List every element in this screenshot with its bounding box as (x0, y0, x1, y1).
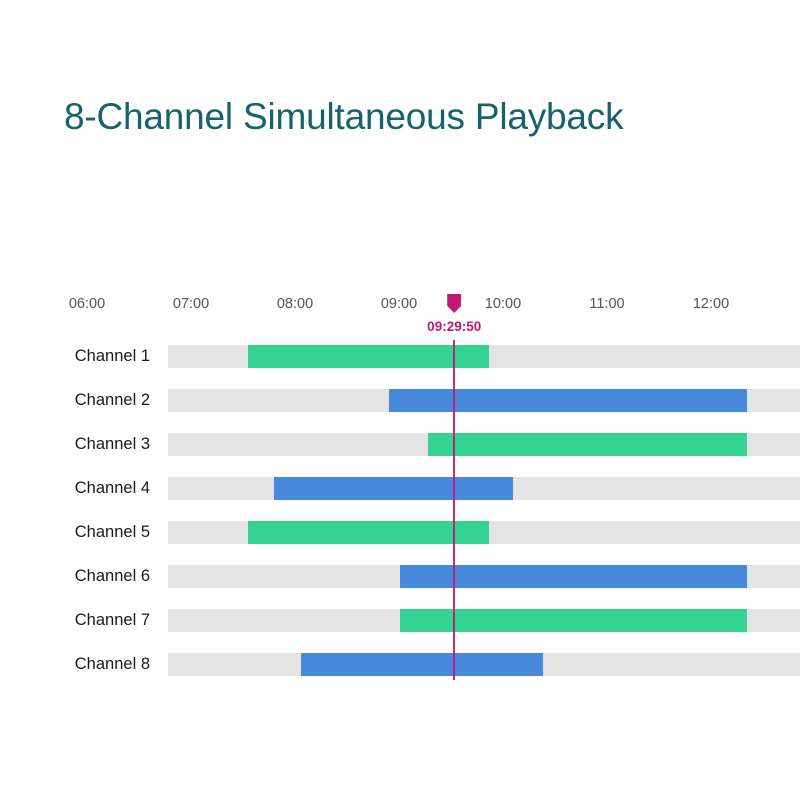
channel-row[interactable]: Channel 1 (0, 345, 800, 389)
channel-row[interactable]: Channel 8 (0, 653, 800, 697)
recording-segment-channel-2[interactable] (389, 389, 748, 412)
playhead-line[interactable] (453, 340, 455, 680)
channel-label-8: Channel 8 (40, 653, 150, 676)
axis-tick-label: 08:00 (277, 296, 313, 312)
recording-segment-channel-8[interactable] (301, 653, 542, 676)
playback-timeline-page: 8-Channel Simultaneous Playback 06:0007:… (0, 0, 800, 800)
axis-tick-label: 06:00 (69, 296, 105, 312)
recording-segment-channel-7[interactable] (400, 609, 747, 632)
channel-row[interactable]: Channel 6 (0, 565, 800, 609)
playhead-time-label: 09:29:50 (427, 319, 481, 334)
channel-row[interactable]: Channel 7 (0, 609, 800, 653)
axis-tick-label: 09:00 (381, 296, 417, 312)
channel-label-5: Channel 5 (40, 521, 150, 544)
channel-row[interactable]: Channel 3 (0, 433, 800, 477)
channel-label-3: Channel 3 (40, 433, 150, 456)
playhead-marker-icon[interactable] (447, 294, 461, 313)
recording-segment-channel-3[interactable] (428, 433, 747, 456)
channel-label-6: Channel 6 (40, 565, 150, 588)
channel-label-1: Channel 1 (40, 345, 150, 368)
axis-tick-label: 07:00 (173, 296, 209, 312)
recording-segment-channel-6[interactable] (400, 565, 747, 588)
channel-row[interactable]: Channel 4 (0, 477, 800, 521)
axis-tick-label: 10:00 (485, 296, 521, 312)
channel-label-7: Channel 7 (40, 609, 150, 632)
timeline-chart[interactable]: 06:0007:0008:0009:0010:0011:0012:00Chann… (0, 0, 800, 800)
channel-row[interactable]: Channel 2 (0, 389, 800, 433)
recording-segment-channel-4[interactable] (274, 477, 513, 500)
channel-label-2: Channel 2 (40, 389, 150, 412)
axis-tick-label: 12:00 (693, 296, 729, 312)
axis-tick-label: 11:00 (589, 296, 624, 312)
channel-label-4: Channel 4 (40, 477, 150, 500)
channel-row[interactable]: Channel 5 (0, 521, 800, 565)
